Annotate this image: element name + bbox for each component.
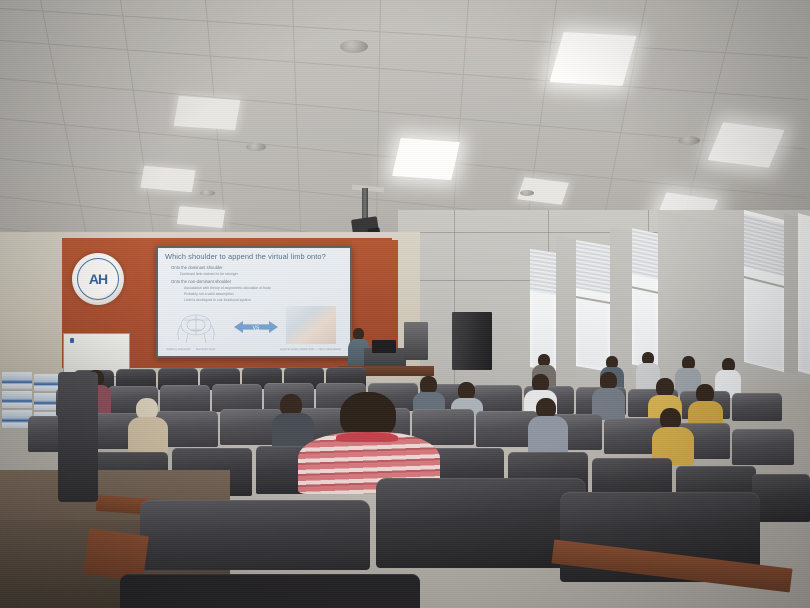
crest-label: AH bbox=[89, 272, 107, 286]
window-pillar bbox=[784, 213, 798, 375]
vs-arrow-icon: VS bbox=[234, 320, 278, 334]
ceiling-light bbox=[177, 206, 225, 228]
slide-bullet: Probably not a valid assumption bbox=[184, 292, 234, 296]
ceiling-light bbox=[140, 166, 195, 192]
foreground-seat bbox=[140, 500, 370, 570]
foreground-attendee-collar bbox=[336, 432, 398, 442]
projection-screen: Which shoulder to append the virtual lim… bbox=[156, 246, 352, 358]
slide-bullet: Limb is developed in one functional syst… bbox=[184, 298, 251, 302]
slide-surface: Which shoulder to append the virtual lim… bbox=[158, 248, 350, 356]
slide-caption-center: Dominant hand bbox=[196, 347, 215, 351]
foreground-seat-row bbox=[0, 478, 810, 608]
anatomy-diagram bbox=[170, 310, 222, 346]
window-blind bbox=[632, 228, 658, 280]
window-blind bbox=[530, 249, 556, 295]
ceiling-speaker bbox=[200, 190, 215, 196]
slide-title: Which shoulder to append the virtual lim… bbox=[165, 252, 345, 261]
ceiling-light bbox=[392, 138, 460, 180]
slide-caption-photo: supernumerary robotic limb — hand manipu… bbox=[280, 347, 341, 351]
whiteboard-magnet bbox=[70, 338, 74, 343]
side-seat-left bbox=[58, 372, 98, 502]
ceiling-light bbox=[549, 32, 636, 86]
slide-bullet: Association with theory of asymmetric al… bbox=[184, 286, 271, 290]
foreground-seat bbox=[120, 574, 420, 608]
vs-label: VS bbox=[253, 326, 260, 332]
university-crest-icon: AH bbox=[72, 253, 124, 305]
ceiling-light bbox=[174, 96, 241, 130]
foreground-attendee bbox=[292, 392, 442, 492]
window-pane bbox=[798, 213, 810, 375]
ceiling-speaker bbox=[678, 136, 700, 145]
lecture-hall-photo: AH Which shoulder to append the virtual … bbox=[0, 0, 810, 608]
ceiling-speaker bbox=[340, 40, 368, 53]
projector-pole bbox=[362, 188, 368, 220]
presenter-laptop bbox=[372, 340, 396, 353]
slide-bullet: Onto the non-dominant shoulder bbox=[171, 279, 231, 284]
hand-photo bbox=[286, 306, 336, 344]
slide-caption-left: Anatomy schematic bbox=[166, 347, 190, 351]
slide-bullet: Dominant limb claimed to be stronger bbox=[180, 272, 238, 276]
ceiling-speaker bbox=[246, 143, 266, 151]
slide-bullet: Onto the dominant shoulder bbox=[171, 265, 223, 270]
window-blind bbox=[744, 214, 784, 276]
ceiling-speaker bbox=[520, 190, 534, 196]
window-blind bbox=[576, 240, 610, 294]
